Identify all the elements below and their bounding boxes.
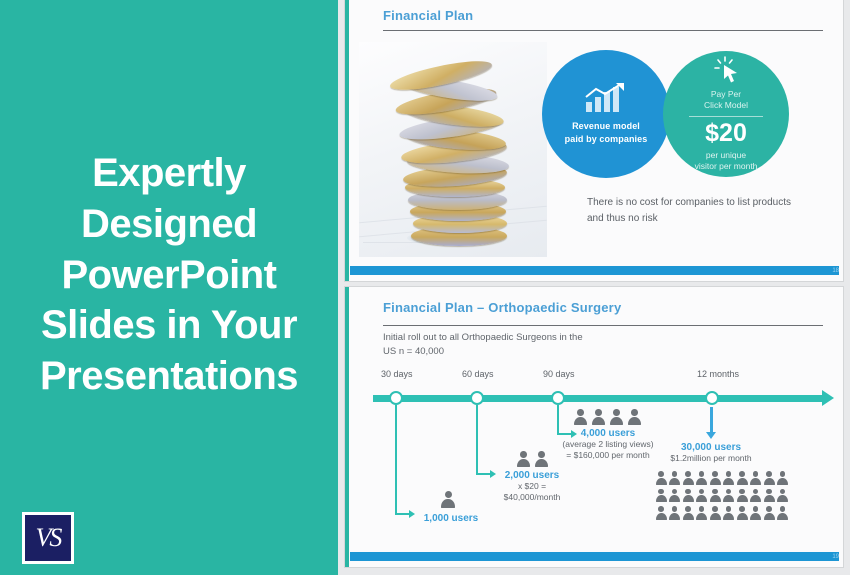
person-icon: [750, 471, 762, 486]
person-icon: [696, 506, 708, 521]
milestone-label-12-months: 12 months: [697, 369, 739, 379]
person-icon: [709, 506, 721, 521]
milestone-label-90-days: 90 days: [543, 369, 575, 379]
person-icon: [696, 489, 708, 504]
coins-photo: [359, 42, 547, 257]
circle-divider: [689, 116, 763, 117]
slide-orthopaedic-surgery[interactable]: Financial Plan – Orthopaedic Surgery Ini…: [344, 286, 844, 568]
timeline-node-90-days: [551, 391, 565, 405]
cursor-click-icon: [712, 56, 740, 84]
revenue-model-label: Revenue model paid by companies: [565, 120, 648, 144]
person-icon: [516, 451, 531, 468]
person-icon: [682, 489, 694, 504]
person-icon: [736, 506, 748, 521]
person-icon: [736, 471, 748, 486]
pay-per-click-circle: Pay Per Click Model $20 per unique visit…: [663, 51, 789, 177]
person-icon: [763, 506, 775, 521]
logo-monogram: VS: [36, 523, 61, 553]
slide-financial-plan[interactable]: Financial Plan: [344, 0, 844, 282]
headline-line-2: Designed: [0, 199, 338, 250]
person-icon: [669, 489, 681, 504]
person-icon: [682, 506, 694, 521]
slide2-title-rule: [383, 325, 823, 326]
person-icon: [696, 471, 708, 486]
person-icon: [669, 471, 681, 486]
bar-chart-growth-icon: [583, 83, 629, 113]
person-icon: [763, 489, 775, 504]
person-icon: [655, 506, 667, 521]
headline-line-3: PowerPoint: [0, 250, 338, 301]
person-icon: [669, 506, 681, 521]
timeline-axis: [373, 395, 825, 402]
slide2-subtitle: Initial roll out to all Orthopaedic Surg…: [383, 331, 683, 360]
timeline-node-30-days: [389, 391, 403, 405]
headline-line-4: Slides in Your: [0, 300, 338, 351]
slide1-note: There is no cost for companies to list p…: [587, 195, 797, 226]
timeline-arrowhead: [822, 390, 834, 406]
slide1-footer-bar: [350, 266, 839, 275]
price-value: $20: [705, 119, 747, 148]
person-icon: [573, 409, 588, 426]
callout-30000-users: 30,000 users $1.2million per month: [645, 442, 777, 464]
person-icon: [591, 409, 606, 426]
person-icon: [723, 471, 735, 486]
person-icon: [627, 409, 642, 426]
slide2-title: Financial Plan – Orthopaedic Surgery: [383, 300, 621, 315]
promo-headline: Expertly Designed PowerPoint Slides in Y…: [0, 148, 338, 402]
milestone-label-60-days: 60 days: [462, 369, 494, 379]
headline-line-1: Expertly: [0, 148, 338, 199]
slide2-footer-bar: [350, 552, 839, 561]
person-icon: [709, 489, 721, 504]
slide2-page-number: 19: [832, 554, 839, 560]
person-icon: [440, 491, 456, 509]
person-icon: [609, 409, 624, 426]
timeline-node-60-days: [470, 391, 484, 405]
person-icon: [736, 489, 748, 504]
pay-per-click-label: Pay Per Click Model: [704, 89, 748, 111]
person-icon: [777, 489, 789, 504]
person-icon: [723, 489, 735, 504]
promo-panel: Expertly Designed PowerPoint Slides in Y…: [0, 0, 338, 575]
person-icon: [750, 506, 762, 521]
brand-logo: VS: [22, 512, 74, 564]
person-icon: [750, 489, 762, 504]
person-icon: [763, 471, 775, 486]
person-icon: [777, 471, 789, 486]
person-icon: [655, 489, 667, 504]
person-icon: [655, 471, 667, 486]
milestone-label-30-days: 30 days: [381, 369, 413, 379]
slide1-page-number: 18: [832, 268, 839, 274]
slide1-title-rule: [383, 30, 823, 31]
callout-1000-users: 1,000 users: [405, 513, 497, 524]
promo-banner: Expertly Designed PowerPoint Slides in Y…: [0, 0, 850, 575]
callout-2000-users: 2,000 users x $20 = $40,000/month: [482, 470, 582, 504]
slide1-title: Financial Plan: [383, 8, 473, 23]
person-icon: [709, 471, 721, 486]
headline-line-5: Presentations: [0, 351, 338, 402]
timeline-node-12-months: [705, 391, 719, 405]
person-icon: [777, 506, 789, 521]
slide-preview-area: Financial Plan: [338, 0, 850, 575]
person-icon: [723, 506, 735, 521]
person-icon: [682, 471, 694, 486]
revenue-model-circle: Revenue model paid by companies: [542, 50, 670, 178]
price-caption: per unique visitor per month: [695, 150, 758, 172]
